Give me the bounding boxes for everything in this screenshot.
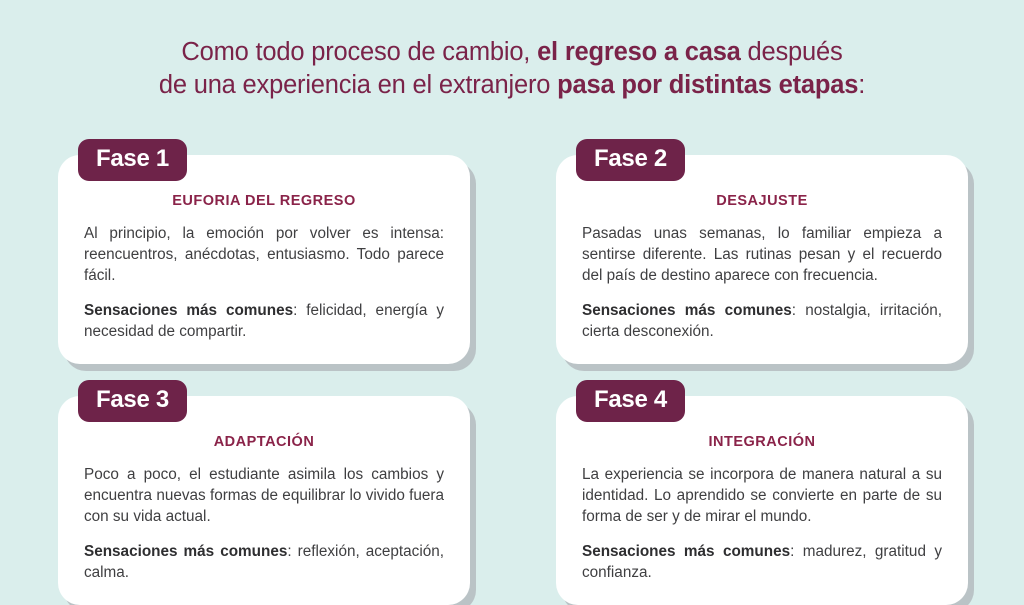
phase-1: Fase 1 EUFORIA DEL REGRESO Al principio,… [58,155,470,364]
phase-body-1: Al principio, la emoción por volver es i… [84,223,444,286]
phase-badge-1: Fase 1 [78,139,187,181]
phase-title-4: INTEGRACIÓN [582,434,942,450]
phase-sensations-label-2: Sensaciones más comunes [582,302,792,319]
phase-card-grid: Fase 1 EUFORIA DEL REGRESO Al principio,… [58,155,968,605]
phase-body-4: La experiencia se incorpora de manera na… [582,464,942,527]
phase-card-1: EUFORIA DEL REGRESO Al principio, la emo… [58,155,470,364]
headline-line2-text-a: de una experiencia en el extranjero [159,71,557,99]
headline-line1-emphasis: el regreso a casa [537,38,741,66]
phase-sensations-4: Sensaciones más comunes: madurez, gratit… [582,541,942,583]
phase-sensations-label-4: Sensaciones más comunes [582,543,790,560]
headline-line-1: Como todo proceso de cambio, el regreso … [0,36,1024,69]
phase-card-2: DESAJUSTE Pasadas unas semanas, lo famil… [556,155,968,364]
headline-line1-text-b: después [741,38,843,66]
infographic-page: Como todo proceso de cambio, el regreso … [0,0,1024,595]
phase-4: Fase 4 INTEGRACIÓN La experiencia se inc… [556,396,968,605]
phase-card-3: ADAPTACIÓN Poco a poco, el estudiante as… [58,396,470,605]
phase-3: Fase 3 ADAPTACIÓN Poco a poco, el estudi… [58,396,470,605]
phase-sensations-label-1: Sensaciones más comunes [84,302,293,319]
phase-title-2: DESAJUSTE [582,193,942,209]
headline-line-2: de una experiencia en el extranjero pasa… [0,69,1024,102]
phase-title-3: ADAPTACIÓN [84,434,444,450]
phase-sensations-1: Sensaciones más comunes: felicidad, ener… [84,300,444,342]
headline-line2-emphasis: pasa por distintas etapas [557,71,858,99]
phase-body-3: Poco a poco, el estudiante asimila los c… [84,464,444,527]
phase-body-2: Pasadas unas semanas, lo familiar empiez… [582,223,942,286]
phase-sensations-label-3: Sensaciones más comunes [84,543,287,560]
phase-card-4: INTEGRACIÓN La experiencia se incorpora … [556,396,968,605]
phase-badge-2: Fase 2 [576,139,685,181]
phase-badge-4: Fase 4 [576,380,685,422]
headline-line2-text-b: : [858,71,865,99]
phase-title-1: EUFORIA DEL REGRESO [84,193,444,209]
phase-2: Fase 2 DESAJUSTE Pasadas unas semanas, l… [556,155,968,364]
phase-badge-3: Fase 3 [78,380,187,422]
phase-sensations-3: Sensaciones más comunes: reflexión, acep… [84,541,444,583]
headline-line1-text-a: Como todo proceso de cambio, [181,38,537,66]
page-title: Como todo proceso de cambio, el regreso … [0,36,1024,102]
phase-sensations-2: Sensaciones más comunes: nostalgia, irri… [582,300,942,342]
